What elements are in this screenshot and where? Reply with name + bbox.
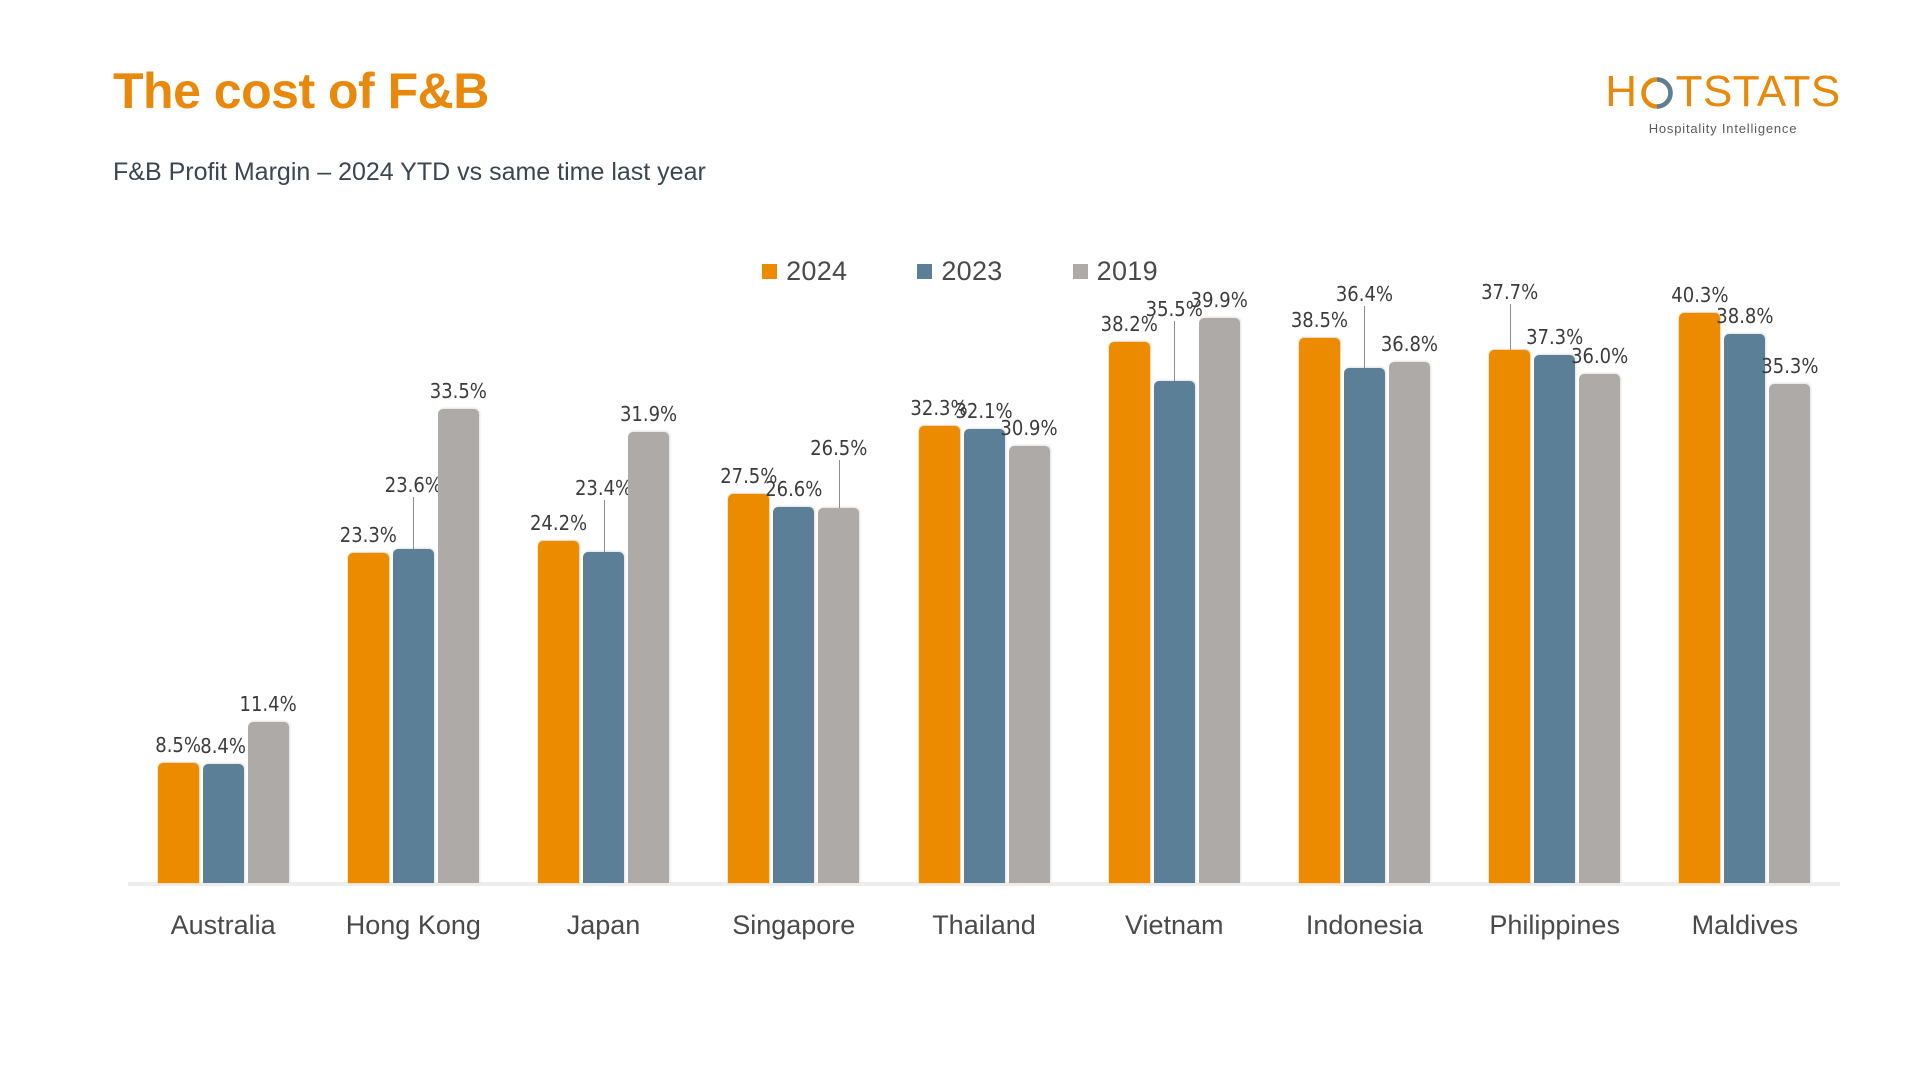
value-label-hong-kong-2019: 33.5% [424,379,493,403]
bar-philippines-2023[interactable] [1534,355,1575,883]
leader-line-japan-2023 [604,500,605,552]
bar-japan-2024[interactable] [538,541,579,883]
bar-vietnam-2023[interactable] [1154,381,1195,883]
leader-line-indonesia-2023 [1364,306,1365,368]
bar-singapore-2019[interactable] [818,508,859,883]
bar-thailand-2023[interactable] [964,429,1005,883]
category-label-indonesia: Indonesia [1269,910,1459,941]
bar-thailand-2019[interactable] [1009,446,1050,883]
leader-line-singapore-2019 [839,460,840,508]
value-label-australia-2019: 11.4% [234,692,303,716]
value-label-maldives-2019: 35.3% [1755,354,1824,378]
value-label-japan-2024: 24.2% [524,511,593,535]
bar-maldives-2024[interactable] [1679,313,1720,883]
category-label-japan: Japan [508,910,698,941]
bar-singapore-2023[interactable] [773,507,814,883]
value-label-singapore-2019: 26.5% [804,436,873,460]
bar-maldives-2023[interactable] [1724,334,1765,883]
value-label-maldives-2023: 38.8% [1710,304,1779,328]
category-label-vietnam: Vietnam [1079,910,1269,941]
bar-philippines-2019[interactable] [1579,374,1620,883]
value-label-indonesia-2023: 36.4% [1330,282,1399,306]
bar-chart-plot: 8.5%8.4%11.4%23.3%23.6%33.5%24.2%23.4%31… [0,0,1920,1080]
category-label-hong-kong: Hong Kong [318,910,508,941]
value-label-philippines-2019: 36.0% [1565,344,1634,368]
bar-hong-kong-2019[interactable] [438,409,479,883]
category-label-thailand: Thailand [889,910,1079,941]
category-label-philippines: Philippines [1460,910,1650,941]
value-label-hong-kong-2024: 23.3% [334,523,403,547]
leader-line-philippines-2024 [1510,304,1511,350]
value-label-vietnam-2019: 39.9% [1185,288,1254,312]
bar-australia-2019[interactable] [248,722,289,883]
value-label-singapore-2023: 26.6% [759,477,828,501]
bar-australia-2023[interactable] [203,764,244,883]
bar-indonesia-2024[interactable] [1299,338,1340,883]
bar-philippines-2024[interactable] [1489,350,1530,883]
bar-vietnam-2019[interactable] [1199,318,1240,883]
value-label-thailand-2019: 30.9% [995,416,1064,440]
bar-indonesia-2019[interactable] [1389,362,1430,883]
bar-japan-2023[interactable] [583,552,624,883]
value-label-indonesia-2024: 38.5% [1285,308,1354,332]
value-label-philippines-2024: 37.7% [1475,280,1544,304]
value-label-japan-2019: 31.9% [614,402,683,426]
bar-thailand-2024[interactable] [919,426,960,883]
bar-indonesia-2023[interactable] [1344,368,1385,883]
bar-hong-kong-2023[interactable] [393,549,434,883]
bar-japan-2019[interactable] [628,432,669,883]
leader-line-hong-kong-2023 [413,497,414,549]
bar-hong-kong-2024[interactable] [348,553,389,883]
category-label-singapore: Singapore [699,910,889,941]
value-label-indonesia-2019: 36.8% [1375,332,1444,356]
bar-maldives-2019[interactable] [1769,384,1810,883]
bar-vietnam-2024[interactable] [1109,342,1150,883]
category-label-australia: Australia [128,910,318,941]
category-label-maldives: Maldives [1650,910,1840,941]
bar-singapore-2024[interactable] [728,494,769,883]
bar-australia-2024[interactable] [158,763,199,883]
leader-line-vietnam-2023 [1174,321,1175,381]
